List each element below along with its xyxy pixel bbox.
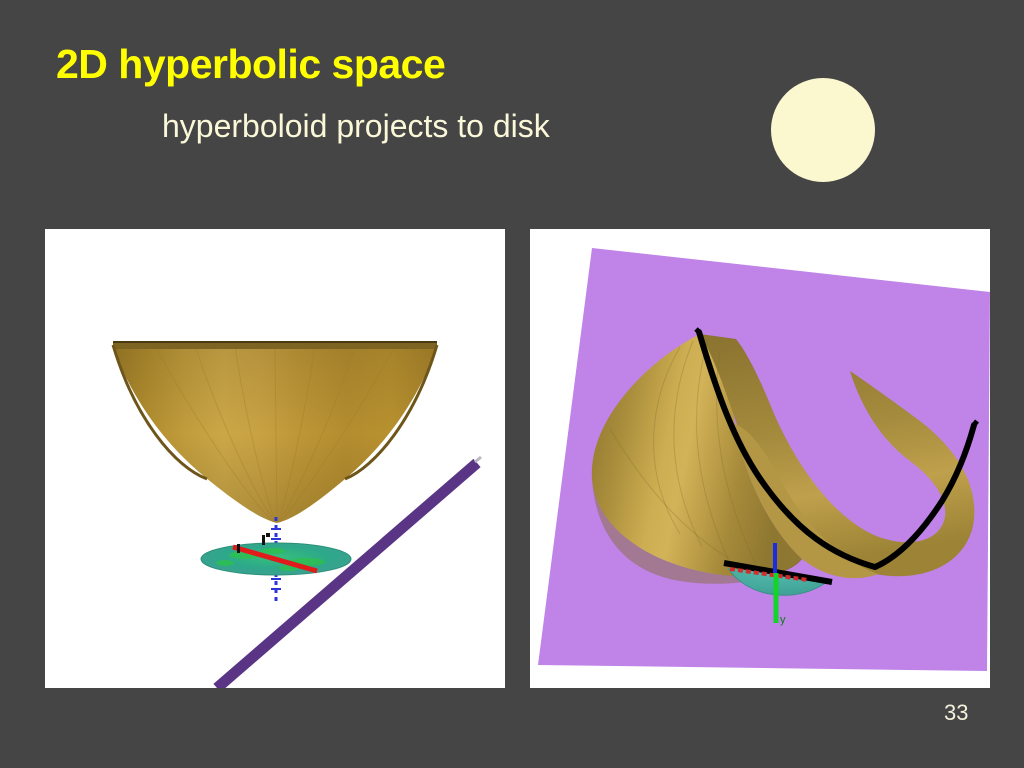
page-number: 33 bbox=[944, 700, 968, 726]
figure-right-graphic: y bbox=[530, 229, 990, 688]
hyperboloid-surface bbox=[113, 342, 437, 523]
cream-circle-decoration bbox=[771, 78, 875, 182]
figure-hyperboloid-cut-by-plane: y bbox=[530, 229, 990, 688]
slide-canvas: 2D hyperbolic space hyperboloid projects… bbox=[0, 0, 1024, 768]
figure-hyperboloid-with-axis bbox=[45, 229, 505, 688]
page-subtitle: hyperboloid projects to disk bbox=[162, 110, 550, 142]
y-axis-label: y bbox=[780, 614, 786, 626]
figure-left-graphic bbox=[45, 229, 505, 688]
page-title: 2D hyperbolic space bbox=[56, 44, 445, 85]
